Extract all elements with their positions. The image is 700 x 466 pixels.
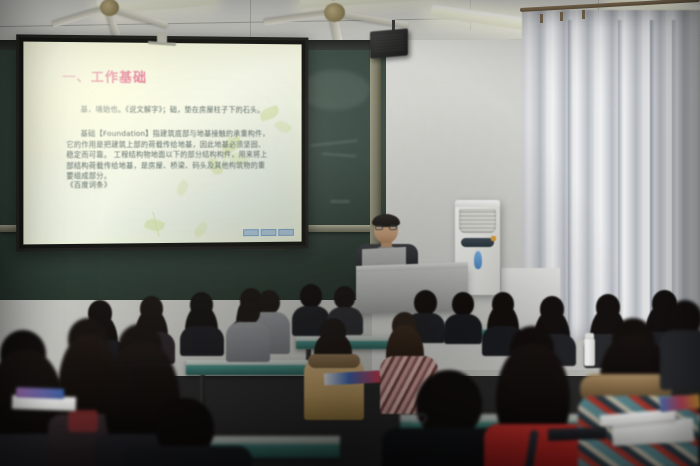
- slide-paragraph-3: 《百度词条》: [66, 180, 270, 191]
- colorful-textbook: [16, 387, 64, 399]
- presentation-slide: 一、工作基础 基，墙始也。《说文解字》；础，垫在房屋柱子下的石头。 基础【Fou…: [23, 42, 301, 245]
- scarf: [68, 410, 98, 432]
- ac-vent-louvers: [459, 209, 496, 233]
- desk: [186, 360, 322, 375]
- projection-screen: 一、工作基础 基，墙始也。《说文解字》；础，垫在房屋柱子下的石头。 基础【Fou…: [16, 34, 308, 251]
- screen-bezel: 一、工作基础 基，墙始也。《说文解字》；础，垫在房屋柱子下的石头。 基础【Fou…: [19, 37, 305, 248]
- classroom-photo: 一、工作基础 基，墙始也。《说文解字》；础，垫在房屋柱子下的石头。 基础【Fou…: [0, 0, 700, 466]
- colorful-textbook: [324, 371, 381, 386]
- glasses-bridge: [376, 226, 397, 231]
- taskbar-item: [261, 229, 277, 236]
- ceiling-fan: [270, 0, 450, 42]
- slide-title: 一、工作基础: [62, 66, 147, 86]
- bottle-cap: [585, 333, 594, 339]
- slide-paragraph-1: 基，墙始也。《说文解字》；础，垫在房屋柱子下的石头。: [66, 105, 270, 116]
- curtain-hook: [540, 14, 543, 23]
- ivy-leaf-decoration: [191, 221, 210, 238]
- dark-notebook: [548, 427, 606, 441]
- fur-collar: [308, 354, 360, 368]
- ivy-leaf-decoration: [274, 117, 293, 135]
- ac-control-panel: [461, 238, 494, 247]
- speaker-grill: [374, 34, 404, 54]
- ac-logo-icon: [474, 251, 482, 269]
- taskbar-item: [278, 229, 294, 236]
- slide-paragraph-2: 基础【Foundation】指建筑底部与地基接触的承重构件，它的作用是把建筑上部…: [66, 129, 270, 183]
- ac-top: [455, 200, 500, 207]
- curtain-hook: [560, 12, 563, 21]
- curtain-hook: [582, 10, 585, 19]
- water-bottle: [584, 338, 595, 366]
- ceiling-fan: [60, 0, 210, 36]
- slide-taskbar: [243, 229, 294, 236]
- wall-speaker-icon: [370, 28, 408, 58]
- taskbar-item: [243, 229, 259, 236]
- glasses-icon: [412, 414, 426, 423]
- ac-badge: [491, 236, 496, 241]
